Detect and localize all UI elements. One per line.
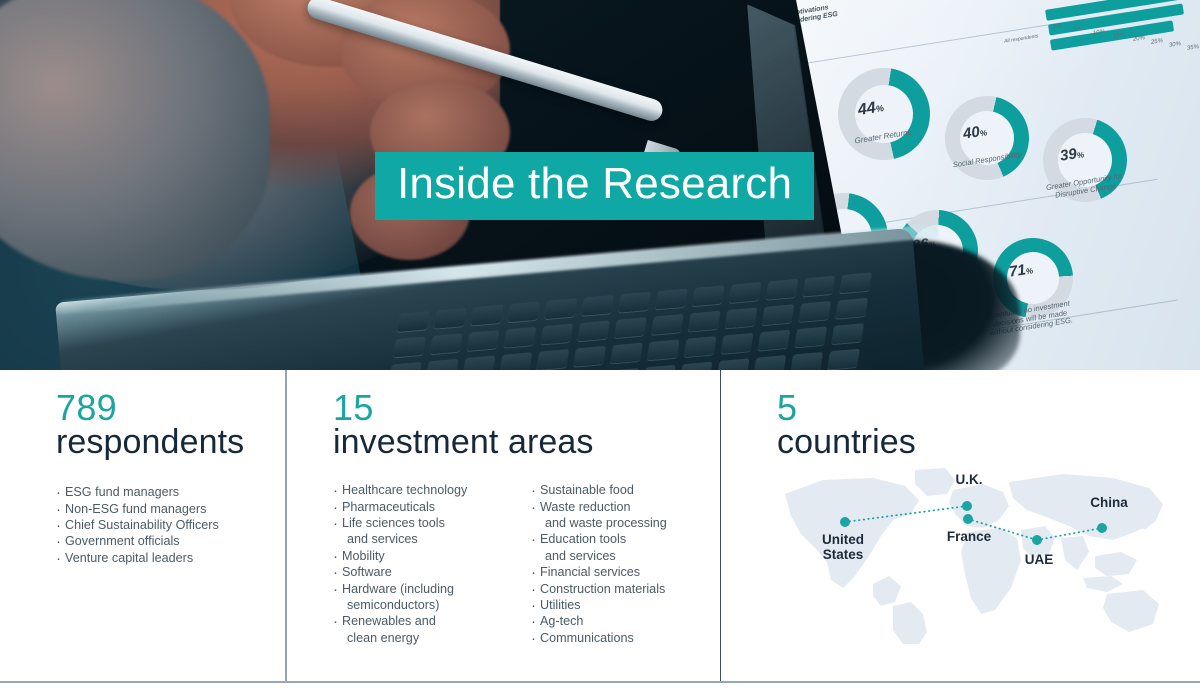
column-divider-2	[720, 370, 721, 681]
list-item: Life sciences tools	[333, 516, 485, 532]
list-item: Non-ESG fund managers	[56, 502, 271, 518]
list-item-continuation: and waste processing	[531, 516, 683, 532]
map-point-uk	[962, 501, 972, 511]
stats-columns: 789 respondents ESG fund managers Non-ES…	[0, 370, 1200, 688]
list-item: Mobility	[333, 549, 485, 565]
investment-areas-list-left: Healthcare technology Pharmaceuticals Li…	[333, 483, 485, 647]
list-item: Financial services	[531, 565, 683, 581]
list-item: Software	[333, 565, 485, 581]
map-point-china	[1097, 523, 1107, 533]
map-label-united-states: UnitedStates	[783, 532, 903, 562]
column-divider-1	[285, 370, 287, 681]
bottom-rule	[0, 681, 1200, 683]
respondents-lists: ESG fund managers Non-ESG fund managers …	[56, 485, 271, 566]
hero-title-banner: Inside the Research	[375, 152, 814, 220]
column-respondents: 789 respondents ESG fund managers Non-ES…	[56, 370, 271, 567]
investment-areas-label: investment areas	[333, 425, 693, 461]
list-item-continuation: semiconductors)	[333, 598, 485, 614]
list-item: Venture capital leaders	[56, 551, 271, 567]
list-item: Hardware (including	[333, 582, 485, 598]
world-map: UnitedStates U.K. France UAE China	[777, 464, 1177, 644]
investment-areas-count: 15	[333, 390, 693, 427]
palm	[0, 0, 270, 280]
list-item: Waste reduction	[531, 500, 683, 516]
list-item: ESG fund managers	[56, 485, 271, 501]
list-item: Communications	[531, 631, 683, 647]
respondents-label: respondents	[56, 425, 271, 461]
hero-image: 0% 5% 10% 15% 20% 25% 30% 35% All respon…	[0, 0, 1200, 370]
map-label-uae: UAE	[995, 552, 1083, 567]
map-label-france: France	[921, 529, 1017, 544]
infographic-page: 0% 5% 10% 15% 20% 25% 30% 35% All respon…	[0, 0, 1200, 688]
list-item: Education tools	[531, 532, 683, 548]
investment-areas-lists: Healthcare technology Pharmaceuticals Li…	[333, 483, 693, 647]
list-item: Healthcare technology	[333, 483, 485, 499]
column-countries: 5 countries	[777, 370, 1177, 460]
map-point-united-states	[840, 517, 850, 527]
countries-count: 5	[777, 390, 1177, 427]
list-item: Government officials	[56, 534, 271, 550]
map-point-uae	[1032, 535, 1042, 545]
list-item: Ag-tech	[531, 614, 683, 630]
list-item-continuation: and services	[333, 532, 485, 548]
list-item-continuation: and services	[531, 549, 683, 565]
list-item: Sustainable food	[531, 483, 683, 499]
list-item-continuation: clean energy	[333, 631, 485, 647]
map-label-china: China	[1065, 495, 1153, 510]
list-item: Pharmaceuticals	[333, 500, 485, 516]
respondents-count: 789	[56, 390, 271, 427]
countries-label: countries	[777, 425, 1177, 461]
list-item: Utilities	[531, 598, 683, 614]
column-investment-areas: 15 investment areas Healthcare technolog…	[333, 370, 693, 647]
list-item: Chief Sustainability Officers	[56, 518, 271, 534]
list-item: Renewables and	[333, 614, 485, 630]
list-item: Construction materials	[531, 582, 683, 598]
map-point-france	[963, 514, 973, 524]
map-label-uk: U.K.	[927, 472, 1011, 487]
investment-areas-list-right: Sustainable food Waste reduction and was…	[531, 483, 683, 647]
respondents-list: ESG fund managers Non-ESG fund managers …	[56, 485, 271, 566]
page-title: Inside the Research	[397, 162, 792, 206]
